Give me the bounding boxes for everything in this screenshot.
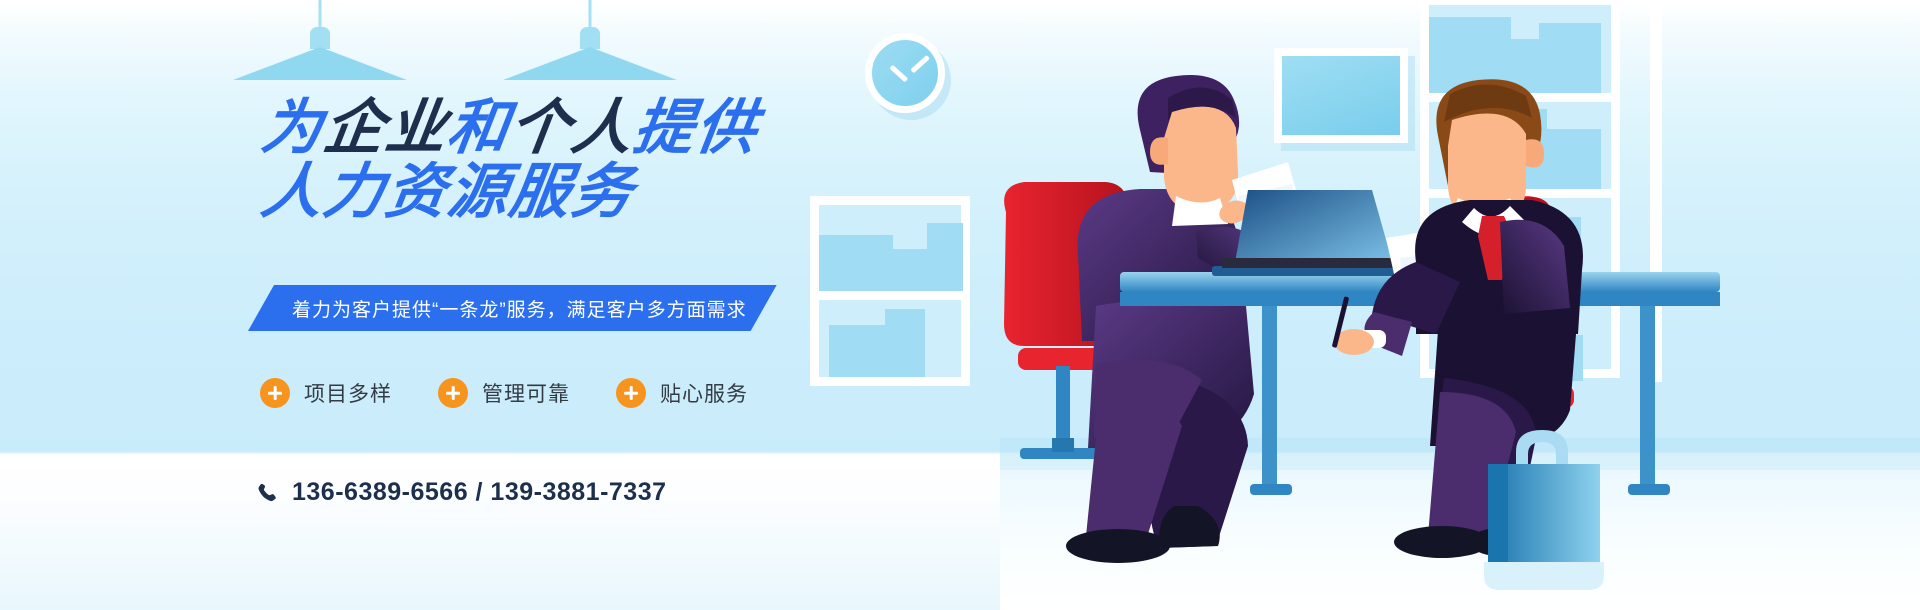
feature-item[interactable]: 项目多样: [260, 378, 392, 408]
feature-label: 管理可靠: [482, 378, 570, 408]
banner-content: 为企业和个人提供 人力资源服务 着力为客户提供“一条龙”服务，满足客户多方面需求…: [0, 0, 980, 610]
feature-label: 贴心服务: [660, 378, 748, 408]
feature-item[interactable]: 贴心服务: [616, 378, 748, 408]
hero-banner: 为企业和个人提供 人力资源服务 着力为客户提供“一条龙”服务，满足客户多方面需求…: [0, 0, 1920, 610]
plus-icon: [438, 378, 468, 408]
page-title: 为企业和个人提供 人力资源服务: [262, 96, 942, 224]
plus-icon: [260, 378, 290, 408]
feature-label: 项目多样: [304, 378, 392, 408]
feature-item[interactable]: 管理可靠: [438, 378, 570, 408]
phone-icon: [256, 481, 278, 505]
headline-line-1: 为企业和个人提供: [262, 96, 942, 160]
headline-seg: 个人: [506, 96, 639, 160]
plus-icon: [616, 378, 646, 408]
phone-number: 136-6389-6566 / 139-3881-7337: [292, 478, 667, 507]
headline-line-2: 人力资源服务: [262, 160, 942, 224]
people-and-desk-graphic: [1000, 0, 1920, 610]
subtitle-banner: 着力为客户提供“一条龙”服务，满足客户多方面需求: [248, 285, 777, 331]
office-illustration: [1000, 0, 1920, 610]
headline-seg: 企业: [320, 96, 453, 160]
headline-seg: 人力资源服务: [258, 160, 639, 224]
contact-phone[interactable]: 136-6389-6566 / 139-3881-7337: [256, 478, 667, 507]
headline-seg: 为: [258, 96, 329, 160]
subtitle-text: 着力为客户提供“一条龙”服务，满足客户多方面需求: [292, 295, 747, 322]
feature-list: 项目多样 管理可靠 贴心服务: [260, 378, 748, 408]
headline-seg: 提供: [630, 96, 763, 160]
headline-seg: 和: [444, 96, 515, 160]
